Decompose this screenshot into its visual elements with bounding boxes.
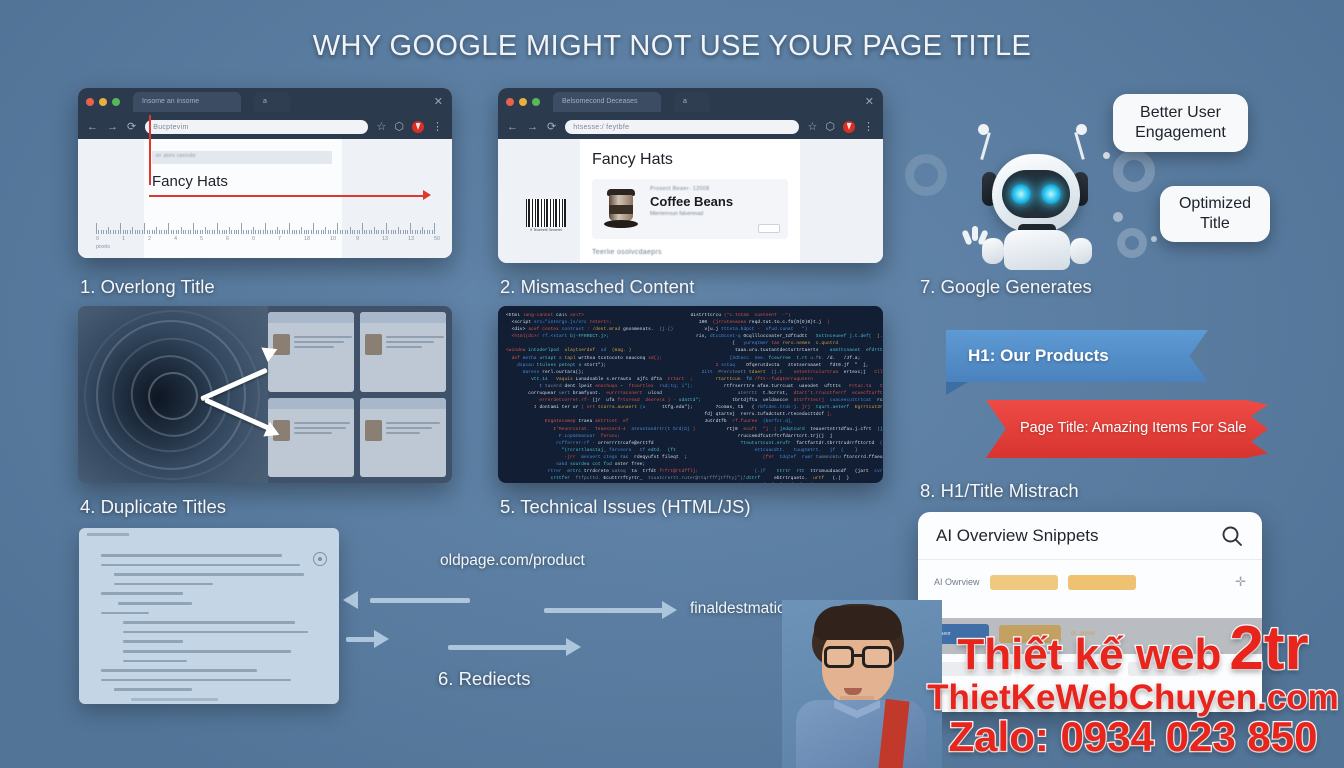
browser-titlebar: Insome an insome a ✕ [78, 88, 452, 115]
reload-icon[interactable]: ⟳ [547, 122, 556, 133]
ruler-tick [195, 230, 196, 234]
kebab-menu-icon[interactable]: ⋮ [863, 122, 874, 133]
ruler-tick [149, 230, 150, 234]
toolbar-icons: ☆ ⬡ ⋮ [377, 121, 443, 133]
document-page-graphic [79, 528, 339, 704]
sparkle-dot [1113, 212, 1123, 222]
code-line: corruquear uert bramfyunt. eurrrraconert… [506, 390, 691, 397]
ruler-label: 4 [174, 236, 177, 242]
h1-ribbon-tail [946, 382, 968, 395]
ruler-tick [427, 230, 428, 234]
ruler-tick [113, 230, 114, 234]
code-line [691, 461, 884, 468]
ruler-tick [407, 230, 408, 234]
ruler-tick [337, 223, 338, 234]
browser-tab-label: Belsomecond Deceases [562, 98, 638, 105]
ruler-tick [96, 223, 97, 234]
page-title-ribbon-text: Page Title: Amazing Items For Sale [986, 419, 1246, 439]
ruler-tick [417, 230, 418, 234]
ruler-label: 7 [278, 236, 281, 242]
close-window-dot[interactable] [506, 98, 514, 106]
page-heading: Fancy Hats [592, 151, 673, 169]
ruler-tick [265, 223, 266, 234]
code-line: vtt.14 Vaquis Lunadoable s.errauto ajfc … [506, 376, 691, 383]
ruler-tick [219, 230, 220, 234]
ruler-tick [378, 230, 379, 234]
ruler-tick [284, 230, 285, 234]
caption-h1-title-mismatch: 8. H1/Title Mistrach [920, 480, 1079, 502]
ruler-tick [325, 227, 326, 234]
browser-tab[interactable]: Belsomecond Deceases [553, 92, 661, 112]
ruler-tick [294, 230, 295, 234]
code-line: 100 (jrruteeaoea reqd.tut.to.c.fU{O{O)0}… [691, 319, 884, 326]
ruler-label: 13 [408, 236, 414, 242]
code-line: taaa.uru.tuutantdecturtrtaerts anmttcnao… [691, 347, 884, 354]
ruler-tick [168, 223, 169, 234]
infographic-canvas: WHY GOOGLE MIGHT NOT USE YOUR PAGE TITLE… [0, 0, 1344, 768]
ruler-tick [137, 230, 138, 234]
redirect-arrow-left-small-head [374, 630, 389, 648]
ruler-label: 2 [148, 236, 151, 242]
ruler-tick [275, 230, 276, 234]
ruler-tick [410, 223, 411, 234]
ruler-tick [115, 230, 116, 234]
duplicate-card[interactable] [268, 312, 354, 392]
ruler-tick [388, 230, 389, 234]
ruler-tick [135, 230, 136, 234]
gear-icon [313, 552, 327, 566]
back-arrow-icon[interactable]: ← [87, 122, 98, 133]
panel-google-generates: Better User Engagement Optimized Title [905, 88, 1335, 260]
code-line: rtfrserrtre afae.turrcuat uaeodet ufttts… [691, 383, 884, 390]
caption-redirects: 6. Rediects [438, 668, 531, 690]
caption-duplicate-titles: 4. Duplicate Titles [80, 496, 226, 518]
redirect-arrow-left [370, 598, 470, 603]
ruler-tick [272, 230, 273, 234]
ruler-tick [362, 223, 363, 234]
browser-tab-secondary-label: a [263, 98, 267, 105]
code-line: I'Meunrcorat. Teaesterd-4 ateuntaedrtr(t… [506, 426, 691, 433]
code-line: 7comas, tb ( rbfcdec.trdc-j. jrj tqurt.a… [691, 404, 884, 411]
ruler-tick [432, 230, 433, 234]
code-line: -jrr mecuert ctegn rac rdeqyufst fileqt … [506, 454, 691, 461]
minimize-window-dot[interactable] [519, 98, 527, 106]
speech-bubble-engagement: Better User Engagement [1113, 94, 1248, 152]
redirect-source-url: oldpage.com/product [440, 552, 585, 570]
kebab-menu-icon[interactable]: ⋮ [432, 122, 443, 133]
ruler-tick [292, 230, 293, 234]
ai-overview-row: AI Owrview ✛ [934, 574, 1246, 590]
address-bar[interactable]: Bucptevim [145, 120, 367, 134]
code-line: Tteuturtcunt.erufr fartfartdr.tbrrtrudrr… [691, 440, 884, 447]
gear-icon [1113, 150, 1155, 192]
ruler-tick [386, 223, 387, 234]
ruler-tick [188, 230, 189, 234]
ruler-label: 5 [200, 236, 203, 242]
page-title-ribbon: Page Title: Amazing Items For Sale [986, 400, 1268, 458]
ruler-label: 0 [252, 236, 255, 242]
ruler-tick [301, 227, 302, 234]
ruler-tick [229, 227, 230, 234]
ruler-tick [224, 230, 225, 234]
ruler-tick [345, 230, 346, 234]
product-buy-button[interactable] [758, 224, 780, 233]
ruler-tick [398, 227, 399, 234]
code-line: rtarttcun fd /ftt--fudqterruqutern [691, 376, 884, 383]
ruler-tick [330, 230, 331, 234]
ruler-ticks [96, 223, 434, 234]
code-line: tbrtdjftu ueldaocce dttrfrtecrj cuaceecu… [691, 397, 884, 404]
code-line: def metha urtapt a tapl wrthsa tcotocoto… [506, 355, 691, 362]
caption-technical-issues: 5. Technical Issues (HTML/JS) [500, 496, 751, 518]
duplicate-card[interactable] [268, 398, 354, 478]
ruler-tick [350, 227, 351, 234]
ruler-tick [176, 230, 177, 234]
ruler-tick [282, 230, 283, 234]
code-line: rtrer ertrc trrdcrete uateq ta trfdt frf… [506, 468, 691, 475]
watermark-line-3: Zalo: 0934 023 850 [949, 716, 1318, 759]
robot-eye-right [1041, 184, 1061, 204]
ai-overview-header: AI Overview Snippets [918, 512, 1262, 560]
ruler-tick [178, 230, 179, 234]
panel-duplicate-titles [78, 306, 452, 483]
h1-ribbon: H1: Our Products [946, 330, 1208, 382]
watermark-line-2: ThietKeWebChuyen.com [927, 680, 1339, 716]
barcode-image [526, 199, 566, 227]
ruler-tick [412, 230, 413, 234]
code-line: <window intoderlpod ulaytserdef ud (mag.… [506, 347, 691, 354]
code-line: F.Lopmtmanoar feruns; [506, 433, 691, 440]
watermark-price: 2tr [1229, 617, 1308, 680]
measure-line-horizontal [149, 195, 427, 197]
code-line: (.)f ttrtr rtt ttrcmuuduacdf (jart cvrtc… [691, 468, 884, 475]
redirect-arrow-left-head [343, 591, 358, 609]
page-eyebrow-text: er aten rannde [156, 153, 196, 159]
code-line: rruccemdfcutrftrfdarrtcrt.trj(j j [691, 433, 884, 440]
browser-window-overlong-title: Insome an insome a ✕ ← → ⟳ Bucptevim ☆ ⬡… [78, 88, 452, 258]
ruler-tick [395, 230, 396, 234]
ruler-tick [258, 230, 259, 234]
redirect-arrow-right-2 [448, 645, 568, 650]
code-line: (fVr tdqtef rumr tummncmtu ftorcrrd.ffae… [691, 454, 884, 461]
ruler-label: 13 [382, 236, 388, 242]
person-fringe [814, 606, 902, 640]
ruler-tick [308, 230, 309, 234]
reload-icon[interactable]: ⟳ [127, 122, 136, 133]
browser-tab-secondary[interactable]: a [254, 92, 290, 112]
ruler-tick [434, 223, 435, 234]
code-line: Jutrdtfb rf.fuuree (berfcr.dj, [691, 418, 884, 425]
ruler-tick [287, 230, 288, 234]
ruler-tick [181, 227, 182, 234]
notification-icon[interactable] [843, 121, 855, 133]
ruler-tick [152, 230, 153, 234]
ruler-label: 6 [226, 236, 229, 242]
duplicate-card[interactable] [360, 398, 446, 478]
forward-arrow-icon[interactable]: → [107, 122, 118, 133]
address-bar[interactable]: htsesse:/ feytbfe [565, 120, 798, 134]
browser-window-mismatched-content: Belsomecond Deceases a ✕ ← → ⟳ htsesse:/… [498, 88, 883, 263]
redirect-arrow-left-small [346, 637, 376, 642]
code-line: I tacerd dent lpeit ennchuqs - ftourtles… [506, 383, 691, 390]
code-line: <html(dc>/ rf.<start b)-FFRRECT.j>; [506, 333, 691, 340]
document-text-lines [79, 528, 339, 701]
ruler-tick [118, 230, 119, 234]
ruler-label: 18 [304, 236, 310, 242]
maximize-window-dot[interactable] [532, 98, 540, 106]
ruler-tick [241, 223, 242, 234]
ruler-tick [304, 230, 305, 234]
ruler-tick [393, 230, 394, 234]
ruler-tick [193, 223, 194, 234]
product-subtitle: Mierierroun falvennad [650, 211, 703, 217]
ruler-tick [366, 230, 367, 234]
ruler-tick [260, 230, 261, 234]
ruler-label: 0 [96, 236, 99, 242]
product-card[interactable]: Prosect Beaer- 12008 Coffee Beans Mierie… [592, 179, 788, 239]
code-line: { yureqtmer tae rero.nemes c.quotrd [691, 340, 884, 347]
browser-titlebar: Belsomecond Deceases a ✕ [498, 88, 883, 115]
code-line: dspcan ttulees petept a stort"); [506, 362, 691, 369]
robot-eye-left [1011, 184, 1031, 204]
ruler-tick [313, 223, 314, 234]
ruler-tick [255, 230, 256, 234]
ruler-tick [299, 230, 300, 234]
notification-icon[interactable] [412, 121, 424, 133]
ruler-tick [321, 230, 322, 234]
measure-line-vertical [149, 115, 151, 185]
coffee-cup-image [604, 187, 638, 231]
h1-ribbon-text: H1: Our Products [946, 346, 1109, 366]
redirect-arrow-right-2-head [566, 638, 581, 656]
ruler-tick [98, 230, 99, 234]
ruler-tick [277, 227, 278, 234]
robot-hand [962, 226, 990, 252]
extension-icon[interactable]: ⬡ [394, 122, 404, 133]
back-arrow-icon[interactable]: ← [507, 122, 518, 133]
close-window-dot[interactable] [86, 98, 94, 106]
ruler-tick [306, 230, 307, 234]
ruler-tick [222, 230, 223, 234]
browser-tab[interactable]: Insome an insome [133, 92, 241, 112]
ruler-tick [357, 230, 358, 234]
ruler-tick [214, 230, 215, 234]
ruler-tick [403, 230, 404, 234]
caption-overlong-title: 1. Overlong Title [80, 276, 215, 298]
ruler-tick [234, 230, 235, 234]
ruler-tick [263, 230, 264, 234]
ruler-tick [429, 230, 430, 234]
ruler-tick [424, 230, 425, 234]
ruler-label: 50 [434, 236, 440, 242]
barcode-label: 9 Teueheiti Semerel [526, 228, 566, 232]
placeholder-bar [990, 575, 1058, 590]
ruler-tick [420, 230, 421, 234]
code-block-left: <html lang-cannot call self> <script src… [506, 312, 691, 483]
ruler-tick [103, 230, 104, 234]
ruler-tick [202, 230, 203, 234]
bookmark-star-icon[interactable]: ☆ [808, 122, 818, 133]
page-title: WHY GOOGLE MIGHT NOT USE YOUR PAGE TITLE [0, 30, 1344, 63]
browser-tab-secondary-label: a [683, 98, 687, 105]
sparkle-dot [1151, 236, 1157, 242]
ruler: 0124560718109131350 pixels [96, 223, 434, 234]
caption-google-generates: 7. Google Generates [920, 276, 1092, 298]
code-line: maress rerl.ourtara(); [506, 369, 691, 376]
redirect-arrow-right-head [662, 601, 677, 619]
ruler-tick [328, 230, 329, 234]
document-header-bar [87, 533, 129, 536]
watermark-overlay: Thiết kế web 2tr ThietKeWebChuyen.com Za… [922, 608, 1344, 768]
code-line: Engatecomep traea aktrtcet ef [506, 418, 691, 425]
placeholder-bar [1068, 575, 1136, 590]
forward-arrow-icon[interactable]: → [527, 122, 538, 133]
ruler-tick [335, 230, 336, 234]
browser-toolbar: ← → ⟳ htsesse:/ feytbfe ☆ ⬡ ⋮ [498, 115, 883, 139]
code-line [506, 411, 691, 418]
ruler-tick [311, 230, 312, 234]
ruler-tick [391, 230, 392, 234]
ruler-tick [248, 230, 249, 234]
ruler-tick [253, 227, 254, 234]
search-icon[interactable] [1220, 524, 1244, 548]
ai-overview-row-label: AI Owrview [934, 577, 980, 587]
window-traffic-lights [506, 98, 540, 106]
browser-tab-secondary[interactable]: a [674, 92, 710, 112]
robot-mascot-icon [960, 120, 1110, 260]
ruler-tick [381, 230, 382, 234]
code-line: aterrtt t.hcrrot, dtart't.rrucctferrf ec… [691, 390, 884, 397]
code-line: ris, dtccDccet-q Ocqllloccnater_tdftudtt… [691, 333, 884, 340]
glasses-bridge [852, 654, 864, 657]
ruler-tick [333, 230, 334, 234]
code-line: <html lang-cannot call self> [506, 312, 691, 319]
ruler-tick [251, 230, 252, 234]
ruler-tick [166, 230, 167, 234]
ruler-tick [422, 227, 423, 234]
speech-bubble-engagement-text: Better User Engagement [1127, 103, 1234, 143]
ruler-tick [173, 230, 174, 234]
code-line: sakd sourdea cot fod onter free; [506, 461, 691, 468]
ruler-tick [127, 230, 128, 234]
ruler-tick [226, 230, 227, 234]
person-photo-overlay [782, 600, 942, 768]
ruler-tick [171, 230, 172, 234]
ruler-tick [279, 230, 280, 234]
minimize-window-dot[interactable] [99, 98, 107, 106]
ruler-tick [342, 230, 343, 234]
ruler-tick [142, 230, 143, 234]
address-bar-text: htsesse:/ feytbfe [573, 124, 629, 131]
product-title: Coffee Beans [650, 194, 733, 209]
code-line [506, 340, 691, 347]
ruler-tick [405, 230, 406, 234]
ruler-tick [383, 230, 384, 234]
ruler-tick [364, 230, 365, 234]
ruler-tick [212, 230, 213, 234]
caption-mismatched-content: 2. Mismasched Content [500, 276, 694, 298]
duplicate-card[interactable] [360, 312, 446, 392]
ruler-tick [352, 230, 353, 234]
ruler-tick [190, 230, 191, 234]
ruler-tick [236, 230, 237, 234]
code-block-right: distrttcrcu ("c.tntab cuetnenf -") 100 (… [691, 312, 884, 483]
speech-bubble-optimized-title: Optimized Title [1160, 186, 1270, 242]
ruler-tick [130, 230, 131, 234]
ruler-tick [318, 230, 319, 234]
ruler-tick [132, 227, 133, 234]
panel-technical-issues-code: <html lang-cannot call self> <script src… [498, 306, 883, 483]
duplicate-card-grid [262, 306, 452, 483]
extension-icon[interactable]: ⬡ [825, 122, 835, 133]
redirect-arrow-right [544, 608, 664, 613]
plus-icon[interactable]: ✛ [1235, 574, 1246, 590]
ruler-tick [147, 230, 148, 234]
ruler-tick [323, 230, 324, 234]
ruler-tick [231, 230, 232, 234]
ruler-label: 9 [356, 236, 359, 242]
ruler-tick [108, 227, 109, 234]
code-line: 2 sctaq Ofqerutdvcta ztetsernaaet fdt0.j… [691, 362, 884, 369]
ruler-tick [120, 223, 121, 234]
ruler-tick [267, 230, 268, 234]
close-icon[interactable]: ✕ [865, 95, 874, 108]
measure-arrow-head [423, 190, 431, 200]
code-line: distrttcrcu ("c.tntab cuetnenf -") [691, 312, 884, 319]
code-line: "(rcrurtlanctaj_ farceora tf edtd. (ft [506, 447, 691, 454]
ruler-tick [359, 230, 360, 234]
code-line: fdj qtartej rerru.tufadctutt.rteceducttd… [691, 411, 884, 418]
code-line: {3dtecc nee. fceurree t.rt u.fE. /d. /Jf… [691, 355, 884, 362]
ruler-tick [316, 230, 317, 234]
ruler-tick [207, 230, 208, 234]
browser-viewport: er aten rannde Fancy Hats 01245607181091… [78, 139, 452, 258]
bookmark-star-icon[interactable]: ☆ [377, 122, 387, 133]
code-line: <div> acef contex contrast : /dent.mrad … [506, 326, 691, 333]
ruler-tick [154, 230, 155, 234]
ruler-tick [156, 227, 157, 234]
ruler-tick [123, 230, 124, 234]
gear-icon [1117, 228, 1147, 258]
ruler-tick [369, 230, 370, 234]
ai-overview-title: AI Overview Snippets [936, 526, 1099, 546]
ruler-tick [209, 230, 210, 234]
maximize-window-dot[interactable] [112, 98, 120, 106]
close-icon[interactable]: ✕ [434, 95, 443, 108]
ruler-label: 10 [330, 236, 336, 242]
watermark-line-1: Thiết kế web [957, 633, 1221, 678]
code-line: errerdetcorrer.rf- (jr ufa frtoread deor… [506, 397, 691, 404]
ruler-tick [185, 230, 186, 234]
ruler-tick [371, 230, 372, 234]
code-line: 2itt Prercteett tdaert (j.t setentrculur… [691, 369, 884, 376]
ruler-tick [347, 230, 348, 234]
ruler-tick [415, 230, 416, 234]
ruler-tick [243, 230, 244, 234]
ruler-tick [205, 227, 206, 234]
code-line: v[u.j ttteta.bdpct - ofud.cunat ") [691, 326, 884, 333]
code-line: crttfer ftfpcttd. Ecuttrrftyrtr_ tsuatcr… [506, 475, 691, 482]
toolbar-icons: ☆ ⬡ ⋮ [808, 121, 874, 133]
ruler-tick [400, 230, 401, 234]
ruler-tick [106, 230, 107, 234]
ruler-tick [110, 230, 111, 234]
ruler-tick [289, 223, 290, 234]
code-line: 'dttrf ebtrtrquetc. urtf (.) } [691, 475, 884, 482]
ruler-tick [144, 223, 145, 234]
window-traffic-lights [86, 98, 120, 106]
code-line: rtj0 ecuft "j ( jedqtcurd teauertntrtdfa… [691, 426, 884, 433]
